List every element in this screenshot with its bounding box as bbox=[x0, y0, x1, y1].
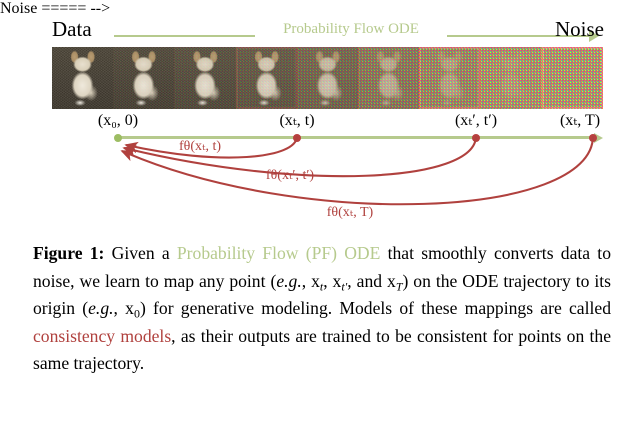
frame-noise-overlay bbox=[297, 47, 358, 109]
strip-frame-4 bbox=[297, 47, 358, 109]
caption-text-5: , and x bbox=[347, 271, 396, 291]
caption-green-pf-ode: Probability Flow (PF) ODE bbox=[177, 243, 381, 263]
frame-noise-overlay bbox=[236, 47, 297, 109]
point-label-xt: (xₜ, t) bbox=[279, 111, 314, 131]
consistency-arrow-xtp-label: fθ(xₜ′, t′) bbox=[266, 168, 314, 184]
frame-noise-overlay bbox=[480, 47, 541, 109]
caption-text-8: ) for generative modeling. Models of the… bbox=[140, 298, 611, 318]
frame-dog-image bbox=[52, 47, 113, 109]
consistency-arrows-group bbox=[0, 133, 644, 233]
figure-caption: Figure 1: Given a Probability Flow (PF) … bbox=[33, 240, 611, 378]
caption-text-7: , x bbox=[114, 298, 134, 318]
point-label-x0: (x₀, 0) bbox=[98, 111, 138, 131]
frame-noise-overlay bbox=[358, 47, 419, 109]
axis-label-data: Data bbox=[52, 14, 92, 44]
strip-frame-6 bbox=[419, 47, 480, 109]
probability-flow-axis: Data Probability Flow ODE Noise bbox=[52, 14, 604, 44]
point-label-xtp: (xₜ′, t′) bbox=[455, 111, 497, 131]
strip-frame-7 bbox=[480, 47, 541, 109]
flow-label-probability-flow-ode: Probability Flow ODE bbox=[252, 21, 450, 37]
flow-line-left-segment bbox=[114, 35, 255, 37]
strip-frame-2 bbox=[174, 47, 235, 109]
figure-1-root: Noise ===== --> Data Probability Flow OD… bbox=[0, 0, 644, 433]
caption-italic-eg-1: e.g. bbox=[276, 271, 301, 291]
strip-frame-5 bbox=[358, 47, 419, 109]
caption-red-consistency-models: consistency models bbox=[33, 326, 171, 346]
diffusion-image-strip bbox=[52, 47, 603, 109]
caption-italic-eg-2: e.g. bbox=[88, 298, 113, 318]
caption-text-4: , x bbox=[323, 271, 341, 291]
consistency-arrow-xT-label: fθ(xₜ, T) bbox=[327, 205, 373, 221]
consistency-arrow-xt-label: fθ(xₜ, t) bbox=[179, 139, 221, 155]
caption-text-3: , x bbox=[302, 271, 320, 291]
caption-figure-number: Figure 1: bbox=[33, 243, 104, 263]
strip-frame-8 bbox=[542, 47, 603, 109]
frame-noise-overlay bbox=[542, 47, 603, 109]
strip-frame-1 bbox=[113, 47, 174, 109]
frame-noise-overlay bbox=[174, 47, 235, 109]
caption-text-1: Given a bbox=[104, 243, 176, 263]
trajectory-point-labels: (x₀, 0)(xₜ, t)(xₜ′, t′)(xₜ, T) bbox=[0, 111, 644, 133]
frame-noise-overlay bbox=[113, 47, 174, 109]
axis-label-noise: Noise bbox=[555, 14, 604, 44]
frame-noise-overlay bbox=[419, 47, 480, 109]
strip-frame-3 bbox=[236, 47, 297, 109]
point-label-xT: (xₜ, T) bbox=[560, 111, 600, 131]
strip-frame-0 bbox=[52, 47, 113, 109]
